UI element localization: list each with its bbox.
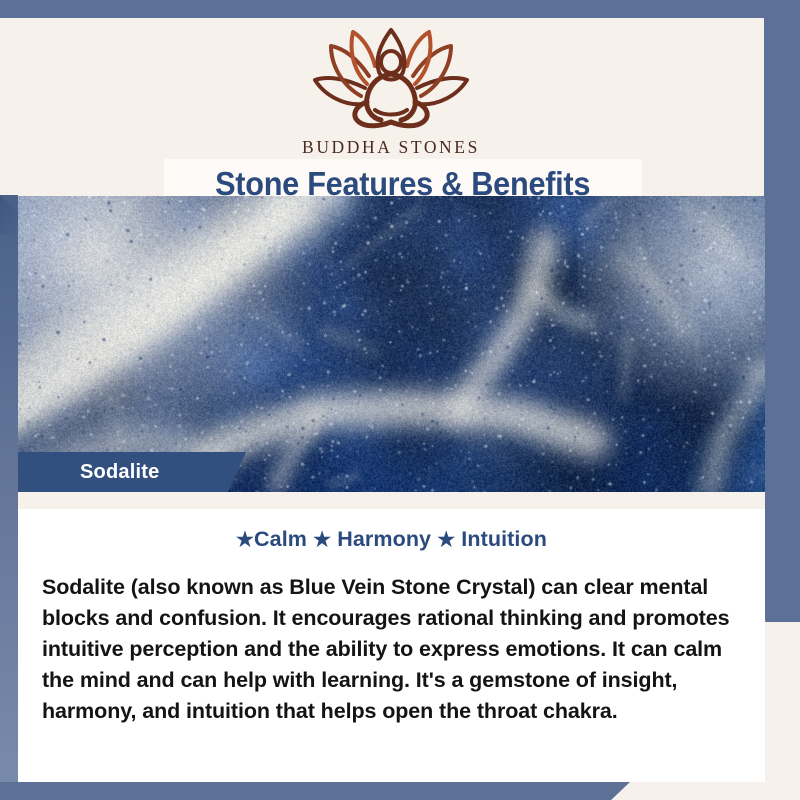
brand-name: BUDDHA STONES (18, 137, 764, 158)
poster-root: BUDDHA STONES Stone Features & Benefits … (0, 0, 800, 800)
stone-texture-canvas (18, 196, 765, 492)
lotus-meditation-icon (18, 26, 764, 135)
header-region: BUDDHA STONES Stone Features & Benefits (18, 18, 764, 196)
keyword-calm: Calm (254, 527, 313, 551)
frame-top-bar (0, 0, 800, 18)
stone-photo (18, 196, 765, 492)
star-icon: ★ (313, 529, 331, 551)
star-icon: ★ (437, 529, 455, 551)
frame-bottom-bar (0, 782, 630, 800)
brand-logo: BUDDHA STONES (18, 26, 764, 158)
keyword-intuition: Intuition (455, 527, 547, 551)
photo-panel-gap (18, 492, 765, 509)
stone-description: Sodalite (also known as Blue Vein Stone … (42, 572, 739, 727)
keyword-harmony: Harmony (331, 527, 437, 551)
frame-right-bar (764, 0, 800, 620)
keyword-list: ★Calm ★ Harmony ★ Intuition (18, 527, 765, 552)
star-icon: ★ (236, 529, 254, 551)
stone-name-badge: Sodalite (18, 452, 246, 492)
stone-name-label: Sodalite (80, 461, 159, 484)
frame-left-bar (0, 195, 18, 800)
content-panel: ★Calm ★ Harmony ★ Intuition Sodalite (al… (18, 509, 765, 782)
